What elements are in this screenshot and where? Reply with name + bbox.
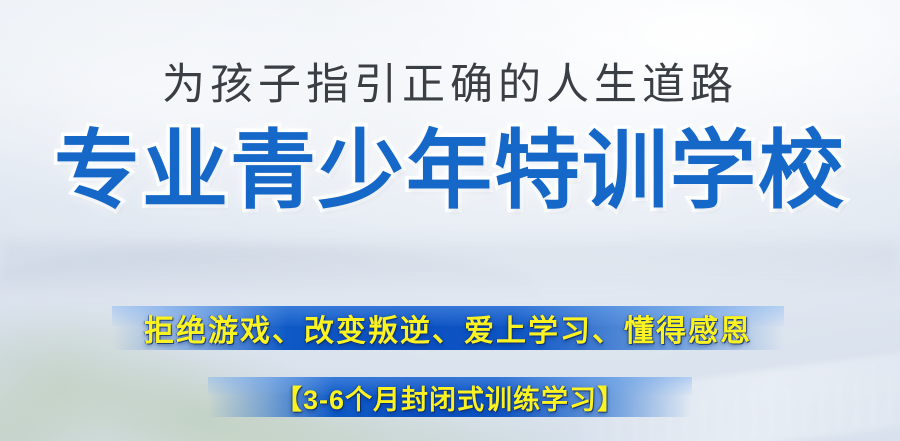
banner-headline: 专业青少年特训学校 [0, 128, 900, 214]
slogan-band: 拒绝游戏、改变叛逆、爱上学习、懂得感恩 [112, 306, 784, 350]
banner-subtitle: 为孩子指引正确的人生道路 [0, 64, 900, 107]
banner-content: 为孩子指引正确的人生道路 专业青少年特训学校 拒绝游戏、改变叛逆、爱上学习、懂得… [0, 0, 900, 441]
duration-band: 【3-6个月封闭式训练学习】 [208, 377, 692, 417]
promo-banner: 为孩子指引正确的人生道路 专业青少年特训学校 拒绝游戏、改变叛逆、爱上学习、懂得… [0, 0, 900, 441]
slogan-band-label: 拒绝游戏、改变叛逆、爱上学习、懂得感恩 [144, 306, 752, 350]
duration-band-label: 【3-6个月封闭式训练学习】 [275, 378, 625, 417]
